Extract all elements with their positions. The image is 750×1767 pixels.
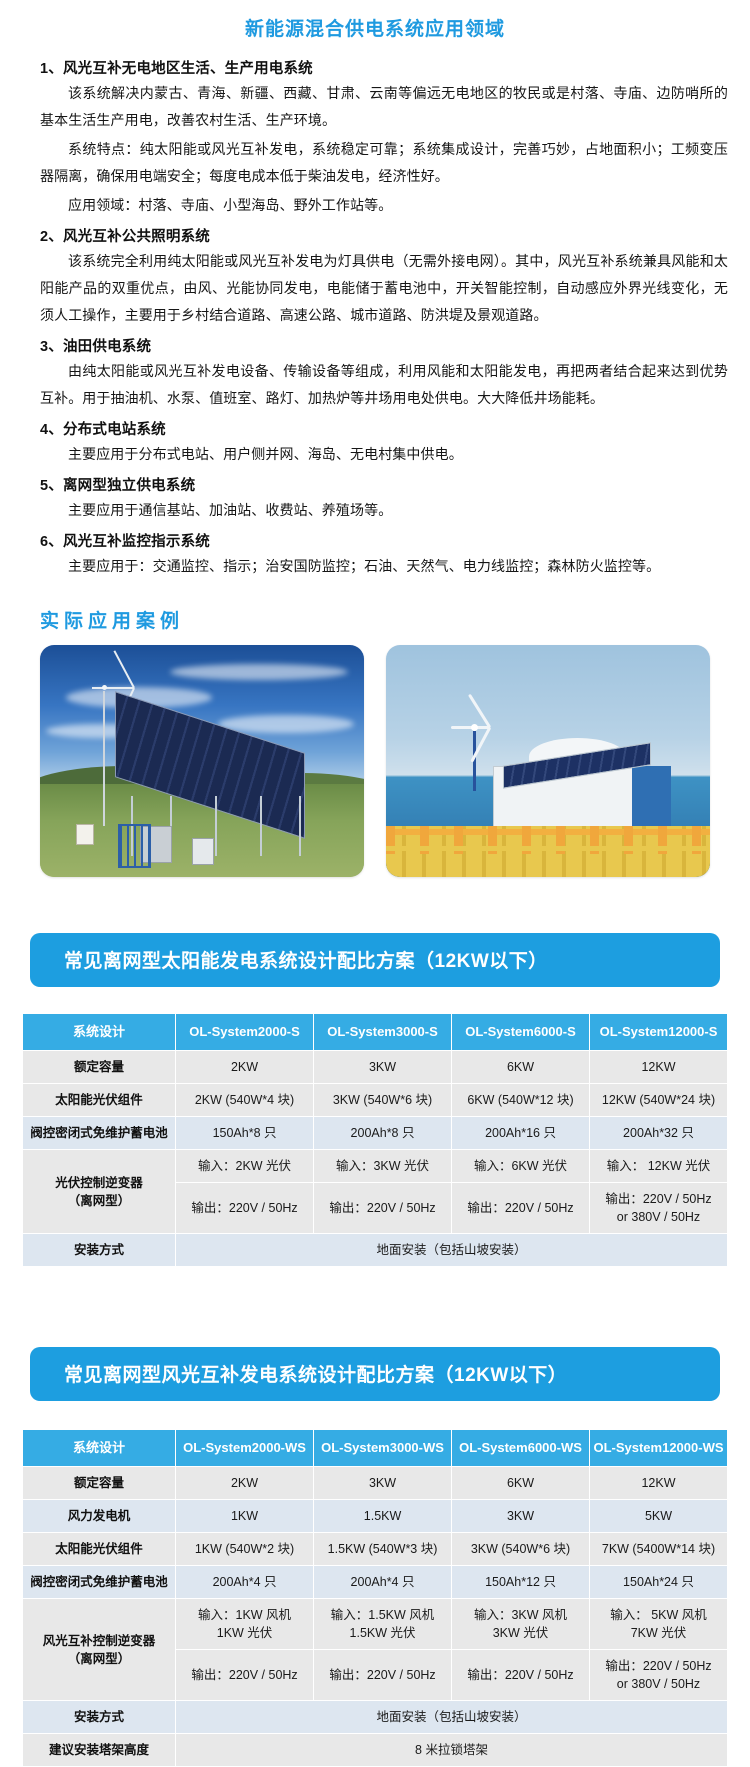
inverter-label-line2: （离网型）: [26, 1650, 172, 1668]
section-heading-5: 5、离网型独立供电系统: [40, 474, 728, 495]
cell: 1.5KW: [314, 1500, 452, 1533]
section-heading-6: 6、风光互补监控指示系统: [40, 530, 728, 551]
cell: 3KW (540W*6 块): [452, 1533, 590, 1566]
row-label-inverter: 光伏控制逆变器 （离网型）: [23, 1150, 176, 1234]
section-paragraph-3-1: 由纯太阳能或风光互补发电设备、传输设备等组成，利用风能和太阳能发电，再把两者结合…: [40, 358, 728, 412]
table-row: 太阳能光伏组件 2KW (540W*4 块) 3KW (540W*6 块) 6K…: [23, 1084, 728, 1117]
cell: 3KW: [314, 1467, 452, 1500]
cell: 输入：2KW 光伏: [176, 1150, 314, 1183]
section-heading-1: 1、风光互补无电地区生活、生产用电系统: [40, 57, 728, 78]
cell: 12KW: [590, 1051, 728, 1084]
table-row: 安装方式 地面安装（包括山坡安装）: [23, 1234, 728, 1267]
cell: 1KW: [176, 1500, 314, 1533]
table-row: 太阳能光伏组件 1KW (540W*2 块) 1.5KW (540W*3 块) …: [23, 1533, 728, 1566]
section-paragraph-1-2: 系统特点：纯太阳能或风光互补发电，系统稳定可靠；系统集成设计，完善巧妙，占地面积…: [40, 136, 728, 190]
cell: 输出：220V / 50Hz: [314, 1650, 452, 1701]
row-label-installation: 安装方式: [23, 1701, 176, 1734]
hybrid-spec-table: 系统设计 OL-System2000-WS OL-System3000-WS O…: [22, 1429, 728, 1767]
table-row: 阀控密闭式免维护蓄电池 200Ah*4 只 200Ah*4 只 150Ah*12…: [23, 1566, 728, 1599]
row-label-inverter: 风光互补控制逆变器 （离网型）: [23, 1599, 176, 1701]
application-fields-body: 1、风光互补无电地区生活、生产用电系统 该系统解决内蒙古、青海、新疆、西藏、甘肃…: [0, 57, 750, 580]
col-header-12000s: OL-System12000-S: [590, 1014, 728, 1051]
cell: 输入： 12KW 光伏: [590, 1150, 728, 1183]
cell: 输入：3KW 风机 3KW 光伏: [452, 1599, 590, 1650]
col-header-2000ws: OL-System2000-WS: [176, 1430, 314, 1467]
hybrid-table-banner: 常见离网型风光互补发电系统设计配比方案（12KW以下）: [30, 1347, 720, 1401]
cell: 地面安装（包括山坡安装）: [176, 1234, 728, 1267]
table-row: 额定容量 2KW 3KW 6KW 12KW: [23, 1467, 728, 1500]
row-label-pv-module: 太阳能光伏组件: [23, 1533, 176, 1566]
section-heading-3: 3、油田供电系统: [40, 335, 728, 356]
section-paragraph-5-1: 主要应用于通信基站、加油站、收费站、养殖场等。: [40, 497, 728, 524]
table-row: 安装方式 地面安装（包括山坡安装）: [23, 1701, 728, 1734]
cell: 3KW (540W*6 块): [314, 1084, 452, 1117]
cell: 1.5KW (540W*3 块): [314, 1533, 452, 1566]
cell: 3KW: [314, 1051, 452, 1084]
section-paragraph-6-1: 主要应用于：交通监控、指示；治安国防监控；石油、天然气、电力线监控；森林防火监控…: [40, 553, 728, 580]
solar-spec-table: 系统设计 OL-System2000-S OL-System3000-S OL-…: [22, 1013, 728, 1267]
cell: 150Ah*24 只: [590, 1566, 728, 1599]
col-header-6000s: OL-System6000-S: [452, 1014, 590, 1051]
cell: 3KW: [452, 1500, 590, 1533]
cell: 200Ah*16 只: [452, 1117, 590, 1150]
case-photo-grassland-solar: [40, 645, 364, 877]
table-row: 建议安装塔架高度 8 米拉锁塔架: [23, 1734, 728, 1767]
table-row: 额定容量 2KW 3KW 6KW 12KW: [23, 1051, 728, 1084]
section-paragraph-2-1: 该系统完全利用纯太阳能或风光互补发电为灯具供电（无需外接电网）。其中，风光互补系…: [40, 248, 728, 329]
col-header-12000ws: OL-System12000-WS: [590, 1430, 728, 1467]
cell: 输出：220V / 50Hz: [176, 1650, 314, 1701]
cell: 输出：220V / 50Hz: [314, 1183, 452, 1234]
col-header-6000ws: OL-System6000-WS: [452, 1430, 590, 1467]
cell: 地面安装（包括山坡安装）: [176, 1701, 728, 1734]
cell: 12KW (540W*24 块): [590, 1084, 728, 1117]
inverter-label-line2: （离网型）: [26, 1192, 172, 1210]
cell: 输出：220V / 50Hz: [176, 1183, 314, 1234]
section-paragraph-4-1: 主要应用于分布式电站、用户侧并网、海岛、无电村集中供电。: [40, 441, 728, 468]
solar-table-banner: 常见离网型太阳能发电系统设计配比方案（12KW以下）: [30, 933, 720, 987]
table-row: 阀控密闭式免维护蓄电池 150Ah*8 只 200Ah*8 只 200Ah*16…: [23, 1117, 728, 1150]
section-paragraph-1-1: 该系统解决内蒙古、青海、新疆、西藏、甘肃、云南等偏远无电地区的牧民或是村落、寺庙…: [40, 80, 728, 134]
cell: 输入：6KW 光伏: [452, 1150, 590, 1183]
row-label-rated-capacity: 额定容量: [23, 1051, 176, 1084]
row-label-rated-capacity: 额定容量: [23, 1467, 176, 1500]
table-header-row: 系统设计 OL-System2000-WS OL-System3000-WS O…: [23, 1430, 728, 1467]
case-photo-island-container: [386, 645, 710, 877]
cell: 2KW: [176, 1051, 314, 1084]
section-heading-4: 4、分布式电站系统: [40, 418, 728, 439]
solar-table-wrap: 系统设计 OL-System2000-S OL-System3000-S OL-…: [0, 1013, 750, 1267]
row-label-wind-turbine: 风力发电机: [23, 1500, 176, 1533]
cell: 输入：1.5KW 风机 1.5KW 光伏: [314, 1599, 452, 1650]
product-detail-page: 新能源混合供电系统应用领域 1、风光互补无电地区生活、生产用电系统 该系统解决内…: [0, 0, 750, 1767]
cell: 输出：220V / 50Hz or 380V / 50Hz: [590, 1183, 728, 1234]
col-header-3000s: OL-System3000-S: [314, 1014, 452, 1051]
hybrid-table-wrap: 系统设计 OL-System2000-WS OL-System3000-WS O…: [0, 1429, 750, 1767]
table-row-inverter-input: 风光互补控制逆变器 （离网型） 输入：1KW 风机 1KW 光伏 输入：1.5K…: [23, 1599, 728, 1650]
cell: 输入：1KW 风机 1KW 光伏: [176, 1599, 314, 1650]
row-label-tower-height: 建议安装塔架高度: [23, 1734, 176, 1767]
row-label-battery: 阀控密闭式免维护蓄电池: [23, 1566, 176, 1599]
section-paragraph-1-3: 应用领域：村落、寺庙、小型海岛、野外工作站等。: [40, 192, 728, 219]
cell: 输入： 5KW 风机 7KW 光伏: [590, 1599, 728, 1650]
row-label-battery: 阀控密闭式免维护蓄电池: [23, 1117, 176, 1150]
cell: 5KW: [590, 1500, 728, 1533]
case-photo-row: [0, 645, 750, 877]
cell: 150Ah*8 只: [176, 1117, 314, 1150]
cell: 输出：220V / 50Hz: [452, 1183, 590, 1234]
cell: 7KW (5400W*14 块): [590, 1533, 728, 1566]
table-header-row: 系统设计 OL-System2000-S OL-System3000-S OL-…: [23, 1014, 728, 1051]
cell: 2KW: [176, 1467, 314, 1500]
inverter-label-line1: 光伏控制逆变器: [26, 1174, 172, 1192]
table-row: 风力发电机 1KW 1.5KW 3KW 5KW: [23, 1500, 728, 1533]
col-header-system: 系统设计: [23, 1430, 176, 1467]
cell: 输出：220V / 50Hz: [452, 1650, 590, 1701]
col-header-2000s: OL-System2000-S: [176, 1014, 314, 1051]
inverter-label-line1: 风光互补控制逆变器: [26, 1632, 172, 1650]
col-header-system: 系统设计: [23, 1014, 176, 1051]
table-row-inverter-input: 光伏控制逆变器 （离网型） 输入：2KW 光伏 输入：3KW 光伏 输入：6KW…: [23, 1150, 728, 1183]
cell: 150Ah*12 只: [452, 1566, 590, 1599]
cell: 12KW: [590, 1467, 728, 1500]
col-header-3000ws: OL-System3000-WS: [314, 1430, 452, 1467]
section-heading-2: 2、风光互补公共照明系统: [40, 225, 728, 246]
cell: 1KW (540W*2 块): [176, 1533, 314, 1566]
cell: 6KW: [452, 1467, 590, 1500]
cell: 6KW: [452, 1051, 590, 1084]
cell: 200Ah*4 只: [176, 1566, 314, 1599]
case-section-title: 实际应用案例: [40, 606, 750, 633]
cell: 输入：3KW 光伏: [314, 1150, 452, 1183]
cell: 6KW (540W*12 块): [452, 1084, 590, 1117]
row-label-pv-module: 太阳能光伏组件: [23, 1084, 176, 1117]
cell: 200Ah*32 只: [590, 1117, 728, 1150]
cell: 输出：220V / 50Hz or 380V / 50Hz: [590, 1650, 728, 1701]
page-title: 新能源混合供电系统应用领域: [0, 0, 750, 51]
row-label-installation: 安装方式: [23, 1234, 176, 1267]
cell: 200Ah*8 只: [314, 1117, 452, 1150]
cell: 200Ah*4 只: [314, 1566, 452, 1599]
cell: 2KW (540W*4 块): [176, 1084, 314, 1117]
cell: 8 米拉锁塔架: [176, 1734, 728, 1767]
